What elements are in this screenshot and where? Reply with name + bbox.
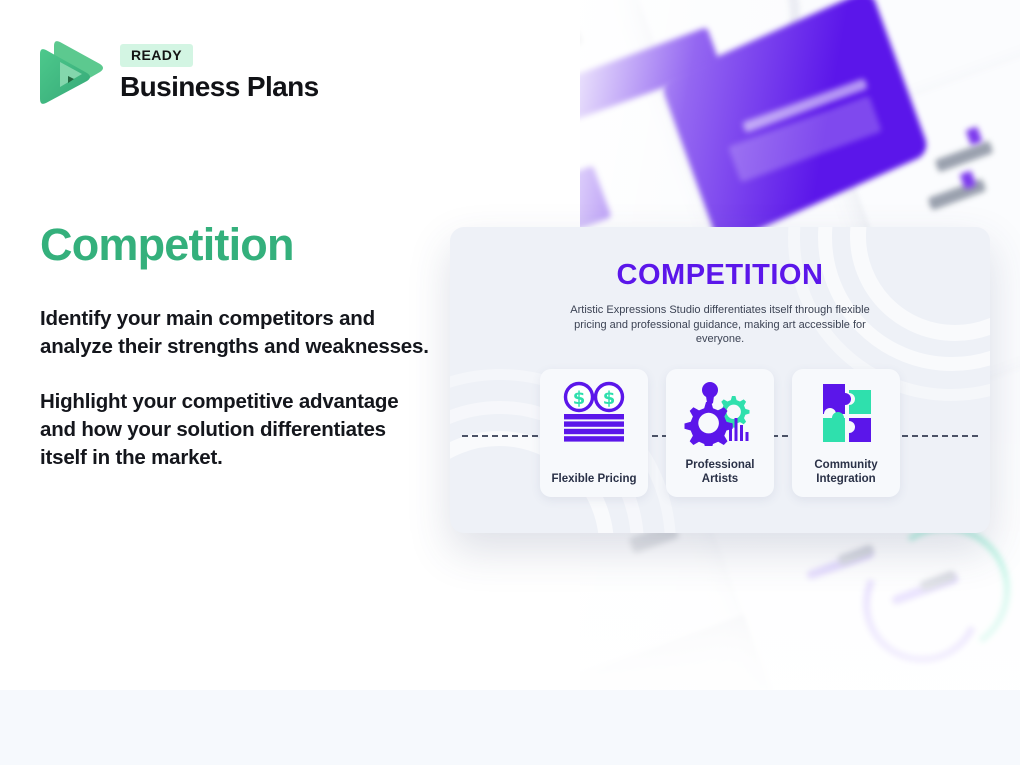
ready-badge: READY [120, 44, 193, 67]
svg-text:$: $ [573, 388, 586, 409]
feature-tile-label: Flexible Pricing [552, 472, 637, 486]
gears-lightbulb-chart-icon [683, 380, 757, 446]
feature-tile-label: Community Integration [792, 458, 900, 486]
feature-tile-community-integration[interactable]: Community Integration [792, 369, 900, 497]
body-copy: Identify your main competitors and analy… [40, 305, 430, 472]
feature-tile-flexible-pricing[interactable]: $ $ Flexible Pricing [540, 369, 648, 497]
brand-logo: READY Business Plans [38, 38, 319, 108]
presentation-slide-page: READY Business Plans Competition Identif… [0, 0, 1020, 765]
body-paragraph: Identify your main competitors and analy… [40, 305, 430, 361]
svg-text:$: $ [603, 388, 616, 409]
bottom-strip [0, 690, 1020, 765]
brand-name: Business Plans [120, 71, 319, 103]
body-paragraph: Highlight your competitive advantage and… [40, 388, 430, 472]
slide-title: COMPETITION [450, 259, 990, 292]
slide-subtitle: Artistic Expressions Studio differentiat… [570, 303, 870, 347]
feature-tile-label: Professional Artists [666, 458, 774, 486]
page-title: Competition [40, 219, 294, 271]
feature-tile-professional-artists[interactable]: Professional Artists [666, 369, 774, 497]
play-triangle-logo-icon [38, 38, 104, 108]
slide-preview-card[interactable]: COMPETITION Artistic Expressions Studio … [450, 227, 990, 533]
feature-tile-row: $ $ Flexible Pricing [540, 369, 900, 497]
puzzle-pieces-icon [809, 380, 883, 446]
coin-stacks-icon: $ $ [557, 380, 631, 446]
